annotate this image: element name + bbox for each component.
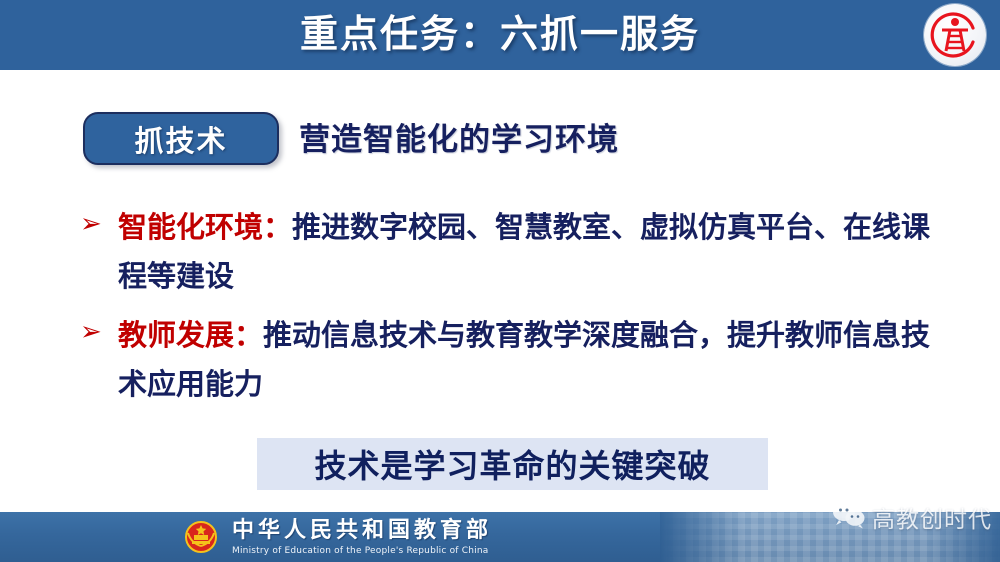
footer-org-name-cn: 中华人民共和国教育部 [232, 518, 492, 543]
bullet-text: 教师发展：推动信息技术与教育教学深度融合，提升教师信息技术应用能力 [118, 318, 930, 401]
list-item: ➢ 智能化环境：推进数字校园、智慧教室、虚拟仿真平台、在线课程等建设 [78, 203, 958, 301]
footer-org-name-en: Ministry of Education of the People's Re… [232, 544, 492, 558]
footer-organization: 中华人民共和国教育部 Ministry of Education of the … [232, 518, 492, 558]
arrow-bullet-icon: ➢ [80, 207, 102, 241]
list-item: ➢ 教师发展：推动信息技术与教育教学深度融合，提升教师信息技术应用能力 [78, 311, 958, 409]
conclusion-text: 技术是学习革命的关键突破 [314, 441, 710, 487]
bullet-list: ➢ 智能化环境：推进数字校园、智慧教室、虚拟仿真平台、在线课程等建设 ➢ 教师发… [78, 203, 958, 419]
china-national-emblem-icon [181, 517, 221, 557]
slide-canvas: 重点任务：六抓一服务 抓技术 营造智能化的学习环境 ➢ 智能化环境：推进数字校园… [0, 0, 1000, 562]
section-badge: 抓技术 [83, 112, 279, 165]
bullet-key: 教师发展： [118, 318, 263, 352]
slide-header: 重点任务：六抓一服务 [0, 0, 1000, 73]
organization-logo-icon [924, 4, 986, 66]
bullet-key: 智能化环境： [118, 210, 292, 244]
conclusion-highlight-box: 技术是学习革命的关键突破 [257, 438, 768, 490]
section-heading: 营造智能化的学习环境 [299, 119, 619, 161]
arrow-bullet-icon: ➢ [80, 315, 102, 349]
section-badge-label: 抓技术 [134, 118, 227, 160]
page-title: 重点任务：六抓一服务 [0, 6, 1000, 62]
watermark: 高教创时代 [832, 500, 992, 534]
watermark-label: 高教创时代 [872, 500, 992, 534]
wechat-icon [832, 501, 866, 533]
bullet-text: 智能化环境：推进数字校园、智慧教室、虚拟仿真平台、在线课程等建设 [118, 210, 930, 293]
